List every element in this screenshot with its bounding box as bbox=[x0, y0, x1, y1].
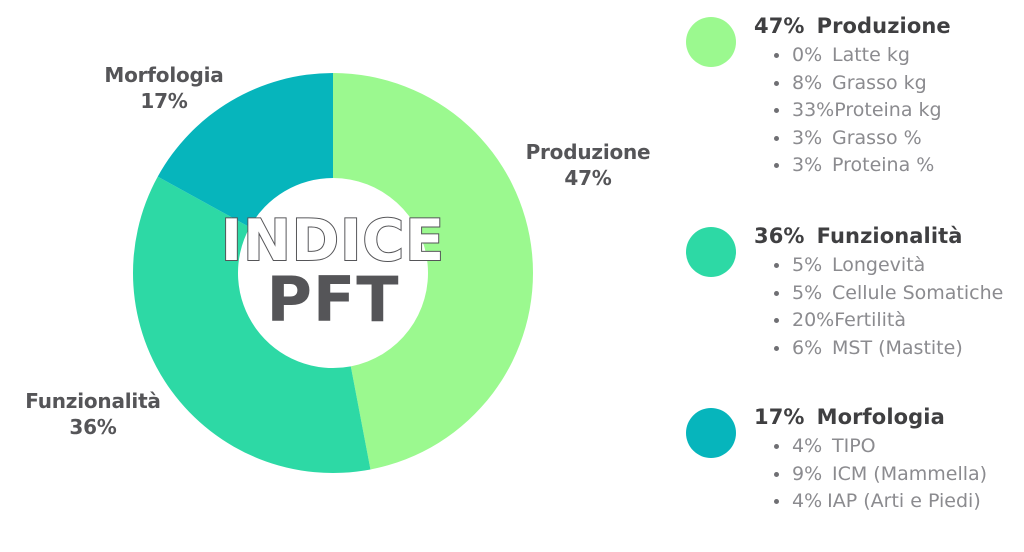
slice-label-morfologia-percent: 17% bbox=[84, 88, 244, 114]
legend-sub-item-percent: 0% bbox=[792, 42, 832, 70]
legend-sub-item: 0%Latte kg bbox=[772, 42, 1024, 70]
slice-label-funzionalita: Funzionalità 36% bbox=[8, 388, 178, 441]
legend-sub-item-label: TIPO bbox=[832, 435, 876, 457]
legend-sub-item: 8%Grasso kg bbox=[772, 70, 1024, 98]
legend-group-percent: 17% bbox=[754, 405, 805, 429]
legend-sub-item-percent: 5% bbox=[792, 280, 832, 308]
legend-sub-item-label: IAP (Arti e Piedi) bbox=[827, 490, 981, 512]
slice-label-morfologia-name: Morfologia bbox=[84, 62, 244, 88]
donut-slice-produzione[interactable] bbox=[333, 73, 533, 469]
donut-chart-area: Morfologia 17% Produzione 47% Funzionali… bbox=[0, 0, 672, 552]
slice-label-morfologia: Morfologia 17% bbox=[84, 62, 244, 115]
donut-slices bbox=[133, 73, 533, 473]
legend-body: 36%Funzionalità5%Longevità5%Cellule Soma… bbox=[754, 224, 1024, 362]
legend-sub-item: 4%IAP (Arti e Piedi) bbox=[772, 488, 1024, 516]
legend-sub-item-percent: 4% bbox=[792, 433, 832, 461]
legend-group-name: Morfologia bbox=[817, 405, 945, 429]
slice-label-produzione-name: Produzione bbox=[508, 139, 668, 165]
legend-sub-items: 4%TIPO9%ICM (Mammella)4%IAP (Arti e Pied… bbox=[754, 433, 1024, 516]
slice-label-funzionalita-name: Funzionalità bbox=[8, 388, 178, 414]
legend-sub-item: 20%Fertilità bbox=[772, 307, 1024, 335]
legend-sub-item-label: Grasso % bbox=[832, 127, 922, 149]
legend-group-percent: 47% bbox=[754, 14, 805, 38]
legend-sub-item-label: ICM (Mammella) bbox=[832, 463, 987, 485]
legend-sub-item: 33%Proteina kg bbox=[772, 97, 1024, 125]
legend-group-title: 36%Funzionalità bbox=[754, 224, 1024, 248]
legend-sub-item: 3%Proteina % bbox=[772, 152, 1024, 180]
legend-sub-item-label: Proteina kg bbox=[834, 99, 941, 121]
slice-label-produzione-percent: 47% bbox=[508, 165, 668, 191]
legend-sub-items: 0%Latte kg8%Grasso kg33%Proteina kg3%Gra… bbox=[754, 42, 1024, 180]
legend-sub-item: 5%Cellule Somatiche bbox=[772, 280, 1024, 308]
legend-group-title: 47%Produzione bbox=[754, 14, 1024, 38]
legend-sub-item-percent: 5% bbox=[792, 252, 832, 280]
slice-label-funzionalita-percent: 36% bbox=[8, 414, 178, 440]
legend-group-funzionalit[interactable]: 36%Funzionalità5%Longevità5%Cellule Soma… bbox=[686, 224, 1024, 362]
legend-sub-item-label: Grasso kg bbox=[832, 72, 927, 94]
legend-sub-item: 9%ICM (Mammella) bbox=[772, 461, 1024, 489]
legend-sub-item-percent: 6% bbox=[792, 335, 832, 363]
legend-sub-item: 6%MST (Mastite) bbox=[772, 335, 1024, 363]
legend-sub-item-label: Latte kg bbox=[832, 44, 910, 66]
legend-color-dot-morfologia bbox=[686, 408, 736, 458]
legend-sub-item-label: MST (Mastite) bbox=[832, 337, 963, 359]
legend-sub-item: 3%Grasso % bbox=[772, 125, 1024, 153]
legend-sub-item-label: Fertilità bbox=[834, 309, 906, 331]
legend-sub-item-percent: 3% bbox=[792, 125, 832, 153]
legend-group-title: 17%Morfologia bbox=[754, 405, 1024, 429]
legend-sub-item: 5%Longevità bbox=[772, 252, 1024, 280]
legend-sub-item-percent: 8% bbox=[792, 70, 832, 98]
legend-sub-item-label: Longevità bbox=[832, 254, 925, 276]
slice-label-produzione: Produzione 47% bbox=[508, 139, 668, 192]
legend-group-name: Funzionalità bbox=[817, 224, 963, 248]
legend-sub-item-label: Proteina % bbox=[832, 154, 934, 176]
legend-color-dot-produzione bbox=[686, 17, 736, 67]
legend-group-percent: 36% bbox=[754, 224, 805, 248]
legend-group-produzione[interactable]: 47%Produzione0%Latte kg8%Grasso kg33%Pro… bbox=[686, 14, 1024, 180]
legend-sub-item-percent: 4% bbox=[792, 488, 822, 516]
legend-sub-item-percent: 3% bbox=[792, 152, 832, 180]
legend-sub-item-label: Cellule Somatiche bbox=[832, 282, 1003, 304]
legend-sub-item-percent: 33% bbox=[792, 97, 834, 125]
chart-legend: 47%Produzione0%Latte kg8%Grasso kg33%Pro… bbox=[686, 0, 1024, 552]
legend-sub-item-percent: 9% bbox=[792, 461, 832, 489]
legend-body: 17%Morfologia4%TIPO9%ICM (Mammella)4%IAP… bbox=[754, 405, 1024, 516]
legend-body: 47%Produzione0%Latte kg8%Grasso kg33%Pro… bbox=[754, 14, 1024, 180]
legend-sub-items: 5%Longevità5%Cellule Somatiche20%Fertili… bbox=[754, 252, 1024, 362]
legend-sub-item-percent: 20% bbox=[792, 307, 834, 335]
legend-group-name: Produzione bbox=[817, 14, 951, 38]
legend-group-morfologia[interactable]: 17%Morfologia4%TIPO9%ICM (Mammella)4%IAP… bbox=[686, 405, 1024, 516]
legend-color-dot-funzionalit bbox=[686, 227, 736, 277]
legend-sub-item: 4%TIPO bbox=[772, 433, 1024, 461]
